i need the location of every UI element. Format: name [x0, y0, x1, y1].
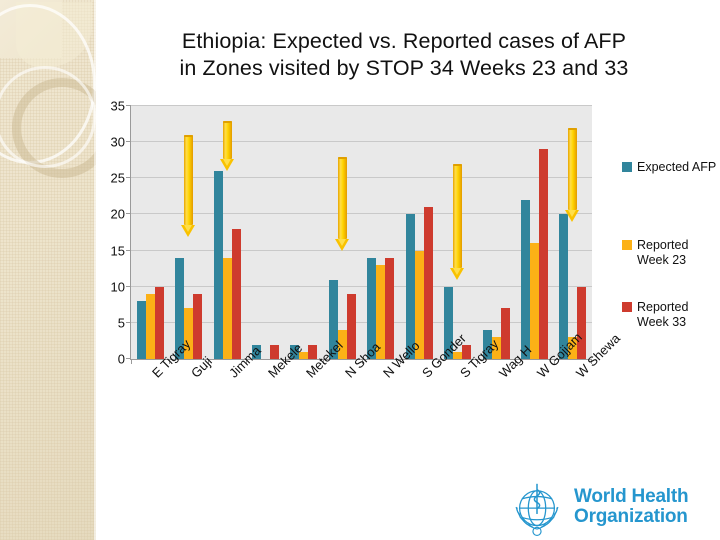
- bar[interactable]: [214, 171, 223, 359]
- arrow-head-highlight: [568, 210, 576, 217]
- y-axis-tick-label: 15: [111, 243, 125, 258]
- legend-item[interactable]: Reported Week 33: [622, 300, 718, 330]
- legend-swatch: [622, 162, 632, 172]
- who-wordmark-line-1: World Health: [574, 487, 688, 508]
- bar[interactable]: [137, 301, 146, 359]
- who-logo: World Health Organization: [508, 478, 688, 536]
- who-wordmark-line-2: Organization: [574, 507, 688, 528]
- arrow-head-highlight: [453, 268, 461, 275]
- bar[interactable]: [146, 294, 155, 359]
- arrow-shaft: [338, 157, 347, 239]
- bar-group: [131, 106, 169, 359]
- arrow-cap: [223, 121, 232, 123]
- x-axis-labels: E TigrayGujiJimmaMekeleMetekelN ShoaN We…: [130, 366, 592, 446]
- arrow-head-highlight: [223, 159, 231, 166]
- legend-item[interactable]: Expected AFP: [622, 160, 716, 175]
- bar[interactable]: [521, 200, 530, 359]
- bar-group: [285, 106, 323, 359]
- legend-label: Reported Week 23: [637, 238, 718, 268]
- legend-swatch: [622, 302, 632, 312]
- arrow-shaft: [184, 135, 193, 225]
- y-axis-tick-label: 10: [111, 279, 125, 294]
- arrow-cap: [184, 135, 193, 137]
- bar-groups: [131, 106, 592, 359]
- bar-group: [246, 106, 284, 359]
- bar[interactable]: [155, 287, 164, 359]
- arrow-shaft: [568, 128, 577, 210]
- down-arrow-icon: [335, 157, 350, 251]
- arrow-cap: [338, 157, 347, 159]
- bar[interactable]: [577, 287, 586, 359]
- y-axis-tick-label: 0: [118, 352, 125, 367]
- bar[interactable]: [501, 308, 510, 359]
- bar[interactable]: [385, 258, 394, 359]
- y-axis-tick-label: 35: [111, 99, 125, 114]
- bar[interactable]: [406, 214, 415, 359]
- y-axis-tick-label: 20: [111, 207, 125, 222]
- decorative-sidebar-band: [0, 0, 96, 540]
- y-axis-tick-label: 30: [111, 135, 125, 150]
- arrow-shaft: [223, 121, 232, 160]
- arrow-shaft: [453, 164, 462, 268]
- bar[interactable]: [424, 207, 433, 359]
- y-axis-tick-label: 25: [111, 171, 125, 186]
- bar-chart: 05101520253035 E TigrayGujiJimmaMekeleMe…: [96, 100, 616, 360]
- bar-group: [400, 106, 438, 359]
- down-arrow-icon: [181, 135, 196, 237]
- down-arrow-icon: [565, 128, 580, 222]
- bar[interactable]: [530, 243, 539, 359]
- title-line-2: in Zones visited by STOP 34 Weeks 23 and…: [104, 55, 704, 82]
- who-wordmark: World Health Organization: [574, 487, 688, 528]
- legend-label: Reported Week 33: [637, 300, 718, 330]
- down-arrow-icon: [220, 121, 235, 172]
- arrow-cap: [568, 128, 577, 130]
- bar[interactable]: [223, 258, 232, 359]
- legend-swatch: [622, 240, 632, 250]
- legend-item[interactable]: Reported Week 23: [622, 238, 718, 268]
- legend-label: Expected AFP: [637, 160, 716, 175]
- plot-area: 05101520253035: [130, 106, 592, 360]
- bar-group: [362, 106, 400, 359]
- bar[interactable]: [232, 229, 241, 359]
- arrow-cap: [453, 164, 462, 166]
- bar[interactable]: [347, 294, 356, 359]
- bar[interactable]: [193, 294, 202, 359]
- bar-group: [477, 106, 515, 359]
- who-emblem-icon: [508, 478, 566, 536]
- y-axis-tick-label: 5: [118, 315, 125, 330]
- bar-group: [515, 106, 553, 359]
- x-axis-tick-mark: [131, 359, 132, 364]
- arrow-head-highlight: [338, 239, 346, 246]
- down-arrow-icon: [450, 164, 465, 280]
- bar[interactable]: [539, 149, 548, 359]
- arrow-head-highlight: [184, 225, 192, 232]
- slide-title: Ethiopia: Expected vs. Reported cases of…: [104, 28, 704, 82]
- title-line-1: Ethiopia: Expected vs. Reported cases of…: [104, 28, 704, 55]
